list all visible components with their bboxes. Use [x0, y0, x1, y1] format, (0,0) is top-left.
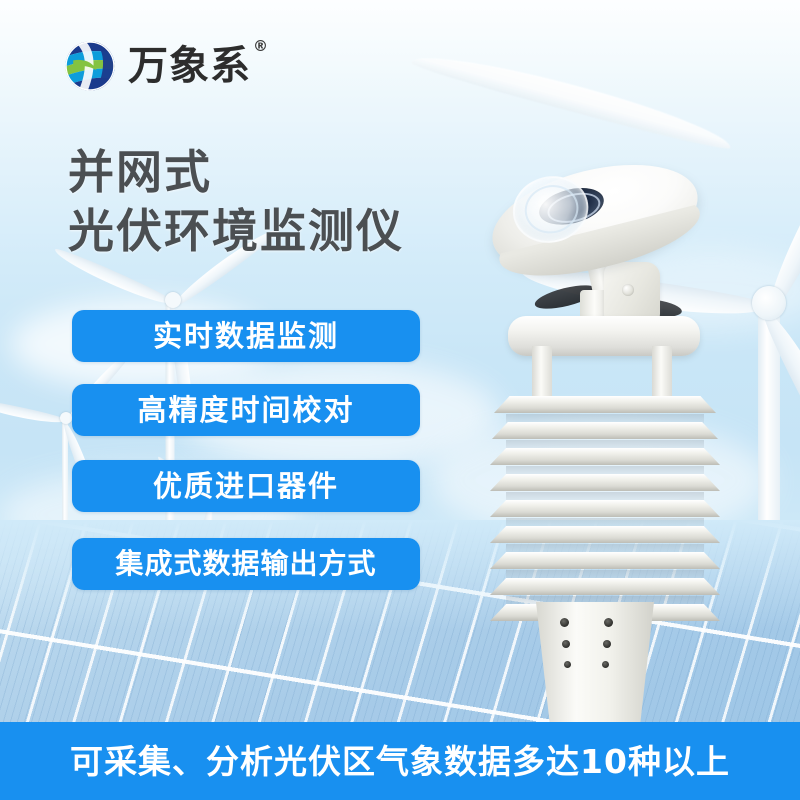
brand-name-text: 万象系 — [128, 43, 251, 89]
feature-pill-time-sync[interactable]: 高精度时间校对 — [72, 384, 420, 436]
turbine-blade — [0, 397, 67, 427]
gimbal-bolt — [622, 284, 634, 296]
louver-plate — [490, 474, 720, 491]
feature-pill-imported-components[interactable]: 优质进口器件 — [72, 460, 420, 512]
product-image — [470, 140, 770, 720]
louver-plate — [494, 396, 716, 413]
louver-plate — [490, 500, 720, 517]
turbine-hub — [60, 412, 72, 424]
radiation-sensor-disc — [476, 125, 714, 312]
headline-line-2: 光伏环境监测仪 — [68, 202, 404, 261]
headline-line-1: 并网式 — [68, 145, 212, 199]
feature-pill-integrated-output[interactable]: 集成式数据输出方式 — [72, 538, 420, 590]
bottom-tagline-banner: 可采集、分析光伏区气象数据多达10种以上 — [0, 722, 800, 800]
registered-trademark-mark: ® — [253, 37, 269, 55]
vent-hole — [564, 661, 571, 668]
vent-hole — [604, 618, 613, 627]
louver-plate — [490, 552, 720, 569]
vent-hole — [560, 618, 569, 627]
feature-pill-realtime-monitoring[interactable]: 实时数据监测 — [72, 310, 420, 362]
brand-name: 万象系® — [128, 46, 267, 86]
bottom-tagline-text: 可采集、分析光伏区气象数据多达10种以上 — [70, 745, 730, 778]
louver-plate — [490, 448, 720, 465]
louver-plate — [490, 578, 720, 595]
globe-swirl-logo-icon — [62, 38, 118, 94]
feature-pill-label: 优质进口器件 — [153, 472, 339, 501]
louver-plate — [490, 526, 720, 543]
feature-pill-label: 高精度时间校对 — [137, 396, 354, 425]
vent-hole — [562, 640, 570, 648]
vent-hole — [602, 661, 609, 668]
vent-hole — [603, 640, 611, 648]
turbine-hub — [165, 292, 181, 308]
louver-plate — [492, 422, 718, 439]
product-banner: 万象系® 并网式 光伏环境监测仪 实时数据监测 高精度时间校对 优质进口器件 集… — [0, 0, 800, 800]
brand-logo[interactable]: 万象系® — [62, 38, 267, 94]
page-title: 并网式 光伏环境监测仪 — [68, 143, 404, 261]
feature-pill-label: 集成式数据输出方式 — [115, 550, 376, 578]
radiation-shield-louvers — [490, 396, 720, 636]
feature-pill-label: 实时数据监测 — [153, 322, 339, 351]
